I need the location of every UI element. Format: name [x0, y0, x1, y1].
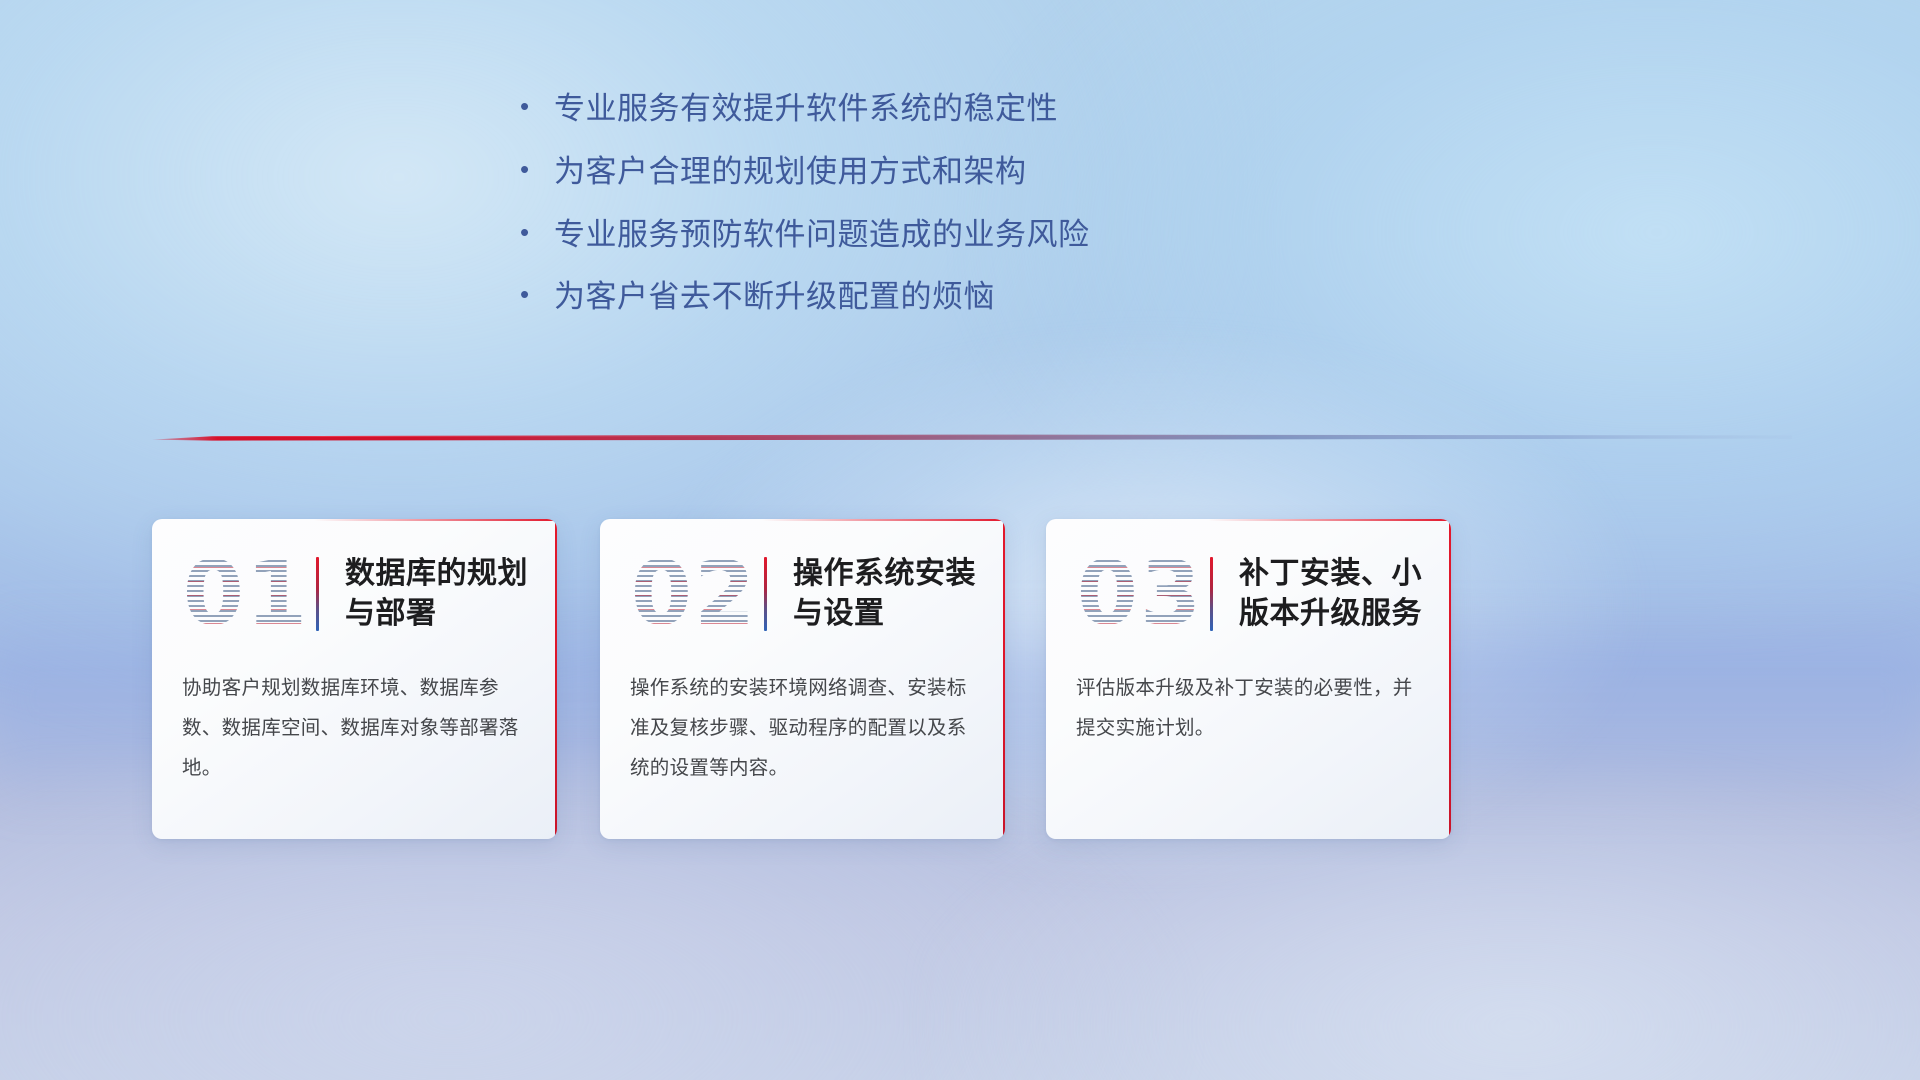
bullet-list: • 专业服务有效提升软件系统的稳定性 • 为客户合理的规划使用方式和架构 • 专… [520, 88, 1280, 339]
list-item: • 为客户省去不断升级配置的烦恼 [520, 276, 1280, 319]
service-card-02[interactable]: 02 02 操作系统安装 与设置 操作系统的安装环境网络调查、安装标准及复核步骤… [600, 519, 1005, 839]
bullet-text-2: 为客户合理的规划使用方式和架构 [554, 151, 1027, 194]
list-item: • 专业服务预防软件问题造成的业务风险 [520, 214, 1280, 257]
bullet-dot-icon: • [520, 281, 554, 307]
card-title: 数据库的规划 与部署 [345, 554, 528, 633]
card-body-text: 协助客户规划数据库环境、数据库参数、数据库空间、数据库对象等部署落地。 [152, 669, 557, 789]
card-title-line-2: 与设置 [793, 594, 976, 634]
card-header: 03 03 补丁安装、小 版本升级服务 [1046, 519, 1451, 669]
bullet-dot-icon: • [520, 156, 554, 182]
card-number-watermark: 01 01 [180, 539, 312, 649]
card-title-line-2: 与部署 [345, 594, 528, 634]
card-body-text: 操作系统的安装环境网络调查、安装标准及复核步骤、驱动程序的配置以及系统的设置等内… [600, 669, 1005, 789]
bullet-text-3: 专业服务预防软件问题造成的业务风险 [554, 214, 1090, 257]
card-title-line-1: 补丁安装、小 [1239, 554, 1422, 594]
card-header: 01 01 数据库的规划 与部署 [152, 519, 557, 669]
card-title: 操作系统安装 与设置 [793, 554, 976, 633]
card-title: 补丁安装、小 版本升级服务 [1239, 554, 1422, 633]
service-card-01[interactable]: 01 01 数据库的规划 与部署 协助客户规划数据库环境、数据库参数、数据库空间… [152, 519, 557, 839]
bullet-dot-icon: • [520, 219, 554, 245]
service-card-03[interactable]: 03 03 补丁安装、小 版本升级服务 评估版本升级及补丁安装的必要性，并提交实… [1046, 519, 1451, 839]
card-number-watermark: 02 02 [628, 539, 760, 649]
bullet-dot-icon: • [520, 93, 554, 119]
service-cards: 01 01 数据库的规划 与部署 协助客户规划数据库环境、数据库参数、数据库空间… [0, 519, 1920, 839]
card-number-watermark: 03 03 [1074, 539, 1206, 649]
card-number-text: 02 [631, 550, 757, 638]
bullet-text-1: 专业服务有效提升软件系统的稳定性 [554, 88, 1058, 131]
card-title-separator-bar [764, 557, 767, 631]
list-item: • 专业服务有效提升软件系统的稳定性 [520, 88, 1280, 131]
card-number-text: 03 [1077, 550, 1203, 638]
card-title-separator-bar [1210, 557, 1213, 631]
card-header: 02 02 操作系统安装 与设置 [600, 519, 1005, 669]
card-title-separator-bar [316, 557, 319, 631]
card-title-line-2: 版本升级服务 [1239, 594, 1422, 634]
bullet-text-4: 为客户省去不断升级配置的烦恼 [554, 276, 995, 319]
card-body-text: 评估版本升级及补丁安装的必要性，并提交实施计划。 [1046, 669, 1451, 749]
gradient-divider-line [152, 428, 1792, 450]
card-title-line-1: 数据库的规划 [345, 554, 528, 594]
card-number-text: 01 [183, 550, 309, 638]
card-title-line-1: 操作系统安装 [793, 554, 976, 594]
list-item: • 为客户合理的规划使用方式和架构 [520, 151, 1280, 194]
